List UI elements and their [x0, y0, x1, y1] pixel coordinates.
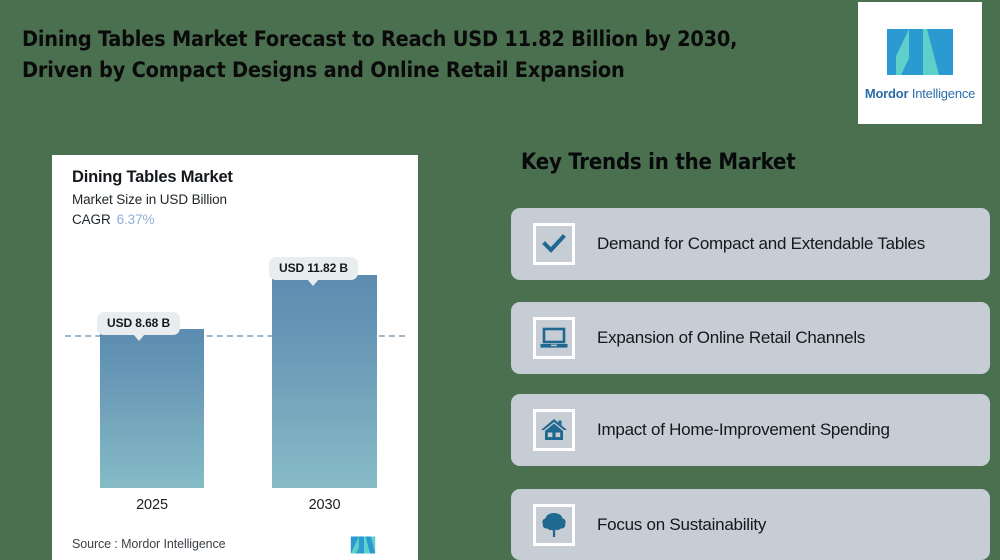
house-icon [533, 409, 575, 451]
value-label-2025: USD 8.68 B [97, 312, 180, 335]
logo-word-light: Intelligence [912, 86, 975, 101]
chart-source: Source : Mordor Intelligence [72, 537, 226, 551]
bar-2030 [272, 275, 377, 488]
trend-card-home-improvement[interactable]: Impact of Home-Improvement Spending [511, 394, 990, 466]
x-axis-tick-2030: 2030 [272, 497, 377, 513]
tree-icon [533, 504, 575, 546]
value-label-2030: USD 11.82 B [269, 257, 358, 280]
header-banner: Dining Tables Market Forecast to Reach U… [0, 0, 1000, 126]
source-logo-icon [346, 535, 380, 555]
trends-heading: Key Trends in the Market [521, 150, 796, 175]
logo-wordmark: Mordor Intelligence [865, 86, 975, 101]
brand-logo: Mordor Intelligence [858, 2, 982, 124]
trend-label: Impact of Home-Improvement Spending [597, 418, 890, 442]
trend-card-online-retail[interactable]: Expansion of Online Retail Channels [511, 302, 990, 374]
page-title: Dining Tables Market Forecast to Reach U… [22, 24, 842, 86]
trend-label: Expansion of Online Retail Channels [597, 326, 865, 350]
check-icon [533, 223, 575, 265]
trend-label: Demand for Compact and Extendable Tables [597, 232, 925, 256]
trend-card-compact-tables[interactable]: Demand for Compact and Extendable Tables [511, 208, 990, 280]
laptop-icon [533, 317, 575, 359]
headline-line-2: Driven by Compact Designs and Online Ret… [22, 55, 842, 86]
bar-2025 [100, 329, 204, 488]
logo-word-bold: Mordor [865, 86, 909, 101]
x-axis-tick-2025: 2025 [100, 497, 204, 513]
headline-line-1: Dining Tables Market Forecast to Reach U… [22, 27, 737, 52]
trend-label: Focus on Sustainability [597, 513, 766, 537]
chart-card: Dining Tables Market Market Size in USD … [52, 155, 418, 560]
trend-card-sustainability[interactable]: Focus on Sustainability [511, 489, 990, 560]
bar-chart-plot: USD 8.68 B USD 11.82 B 2025 2030 [52, 155, 418, 560]
mordor-logo-mark [883, 25, 957, 79]
